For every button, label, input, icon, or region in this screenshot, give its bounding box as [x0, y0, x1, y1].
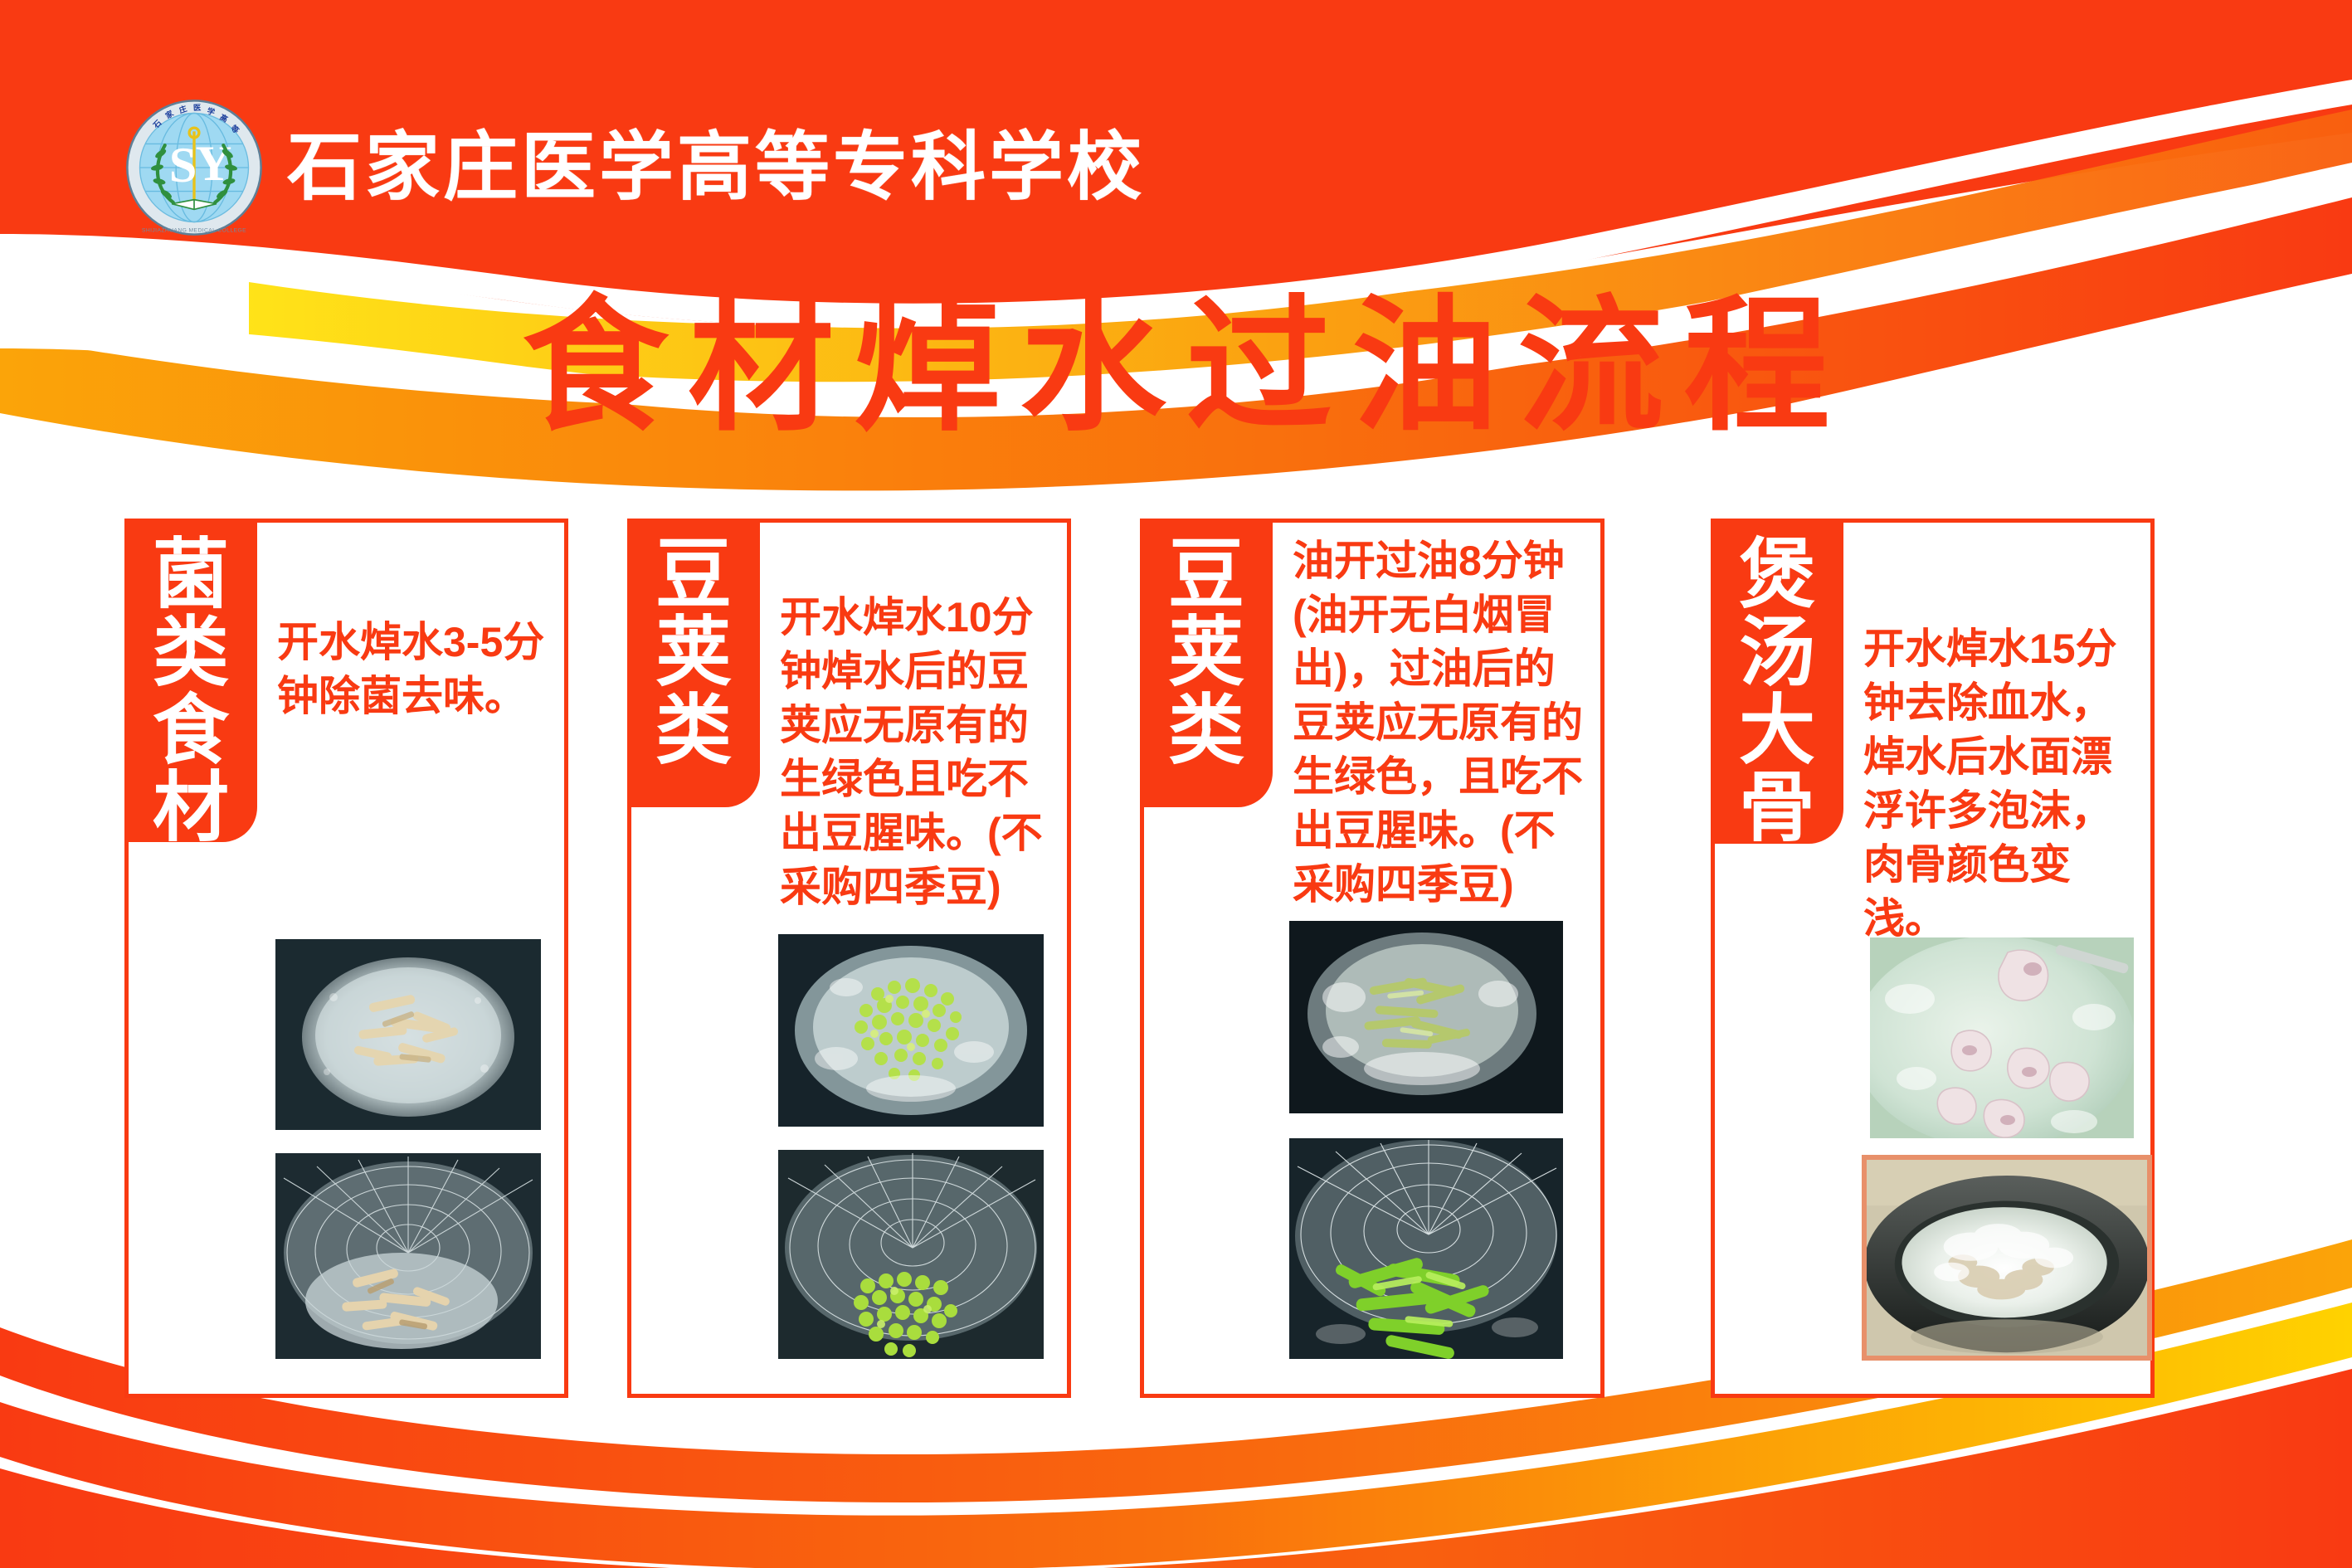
panel-mushrooms-tab: 菌 类 食 材 [124, 519, 257, 842]
panel-soup-bones-tab: 煲 汤 大 骨 [1711, 519, 1843, 844]
bones-foaming-in-pot-photo [1862, 1155, 2152, 1361]
diced-beans-in-boiling-water-photo [778, 934, 1044, 1127]
school-emblem-icon: S Y [124, 98, 264, 237]
poster-canvas: S Y [0, 0, 2352, 1568]
page-title: 食材焯水过油流程 [0, 290, 2352, 444]
tab-char: 大 [1739, 693, 1815, 771]
mushrooms-in-boiling-water-photo [275, 939, 541, 1130]
tab-char: 煲 [1739, 537, 1815, 615]
panel-grid: 菌 类 食 材 开水焯水3-5分钟除菌去味。 [0, 519, 2352, 1398]
tab-char: 荚 [1168, 615, 1244, 693]
bean-segments-in-hot-oil-photo [1289, 921, 1563, 1113]
panel-bean-pods-blanch: 豆 荚 类 开水焯水10分钟焯水后的豆荚应无原有的生绿色且吃不出豆腥味。(不采购… [627, 519, 1071, 1398]
tab-char: 菌 [153, 537, 229, 615]
bottom-wave-3 [0, 1369, 2352, 1568]
mushrooms-in-strainer-photo [275, 1153, 541, 1359]
diced-beans-in-strainer-photo [778, 1150, 1044, 1359]
panel-soup-bones-text: 开水焯水15分钟去除血水，焯水后水面漂浮许多泡沫，肉骨颜色变浅。 [1863, 622, 2142, 946]
tab-char: 类 [153, 615, 229, 693]
panel-bean-pods-oil-body: 油开过油8分钟(油开无白烟冒出)，过油后的豆荚应无原有的生绿色，且吃不出豆腥味。… [1281, 523, 1600, 1394]
panel-bean-pods-oil: 豆 荚 类 油开过油8分钟(油开无白烟冒出)，过油后的豆荚应无原有的生绿色，且吃… [1140, 519, 1605, 1398]
tab-char: 食 [153, 693, 229, 771]
panel-bean-pods-blanch-text: 开水焯水10分钟焯水后的豆荚应无原有的生绿色且吃不出豆腥味。(不采购四季豆) [780, 591, 1059, 914]
svg-text:SHIJIAZHUANG MEDICAL COLLEGE: SHIJIAZHUANG MEDICAL COLLEGE [142, 227, 246, 233]
panel-soup-bones-body: 开水焯水15分钟去除血水，焯水后水面漂浮许多泡沫，肉骨颜色变浅。 [1852, 523, 2150, 1394]
panel-mushrooms-body: 开水焯水3-5分钟除菌去味。 [265, 523, 564, 1394]
tab-char: 类 [1168, 693, 1244, 771]
panel-soup-bones: 煲 汤 大 骨 开水焯水15分钟去除血水，焯水后水面漂浮许多泡沫，肉骨颜色变浅。 [1711, 519, 2155, 1398]
tab-char: 汤 [1739, 615, 1815, 693]
tab-char: 荚 [655, 615, 732, 693]
tab-char: 豆 [655, 537, 732, 615]
panel-bean-pods-oil-text: 油开过油8分钟(油开无白烟冒出)，过油后的豆荚应无原有的生绿色，且吃不出豆腥味。… [1293, 534, 1592, 912]
bones-entering-boiling-water-photo [1870, 937, 2134, 1138]
panel-bean-pods-oil-tab: 豆 荚 类 [1140, 519, 1273, 807]
tab-char: 材 [153, 770, 229, 848]
school-name-text: 石家庄医学高等专科学校 [287, 130, 1145, 205]
tab-char: 类 [655, 693, 732, 771]
school-header: S Y [124, 98, 1145, 237]
panel-bean-pods-blanch-body: 开水焯水10分钟焯水后的豆荚应无原有的生绿色且吃不出豆腥味。(不采购四季豆) [768, 523, 1067, 1394]
svg-text:S: S [169, 138, 197, 193]
tab-char: 骨 [1739, 770, 1815, 848]
tab-char: 豆 [1168, 537, 1244, 615]
panel-bean-pods-blanch-tab: 豆 荚 类 [627, 519, 760, 807]
panel-mushrooms: 菌 类 食 材 开水焯水3-5分钟除菌去味。 [124, 519, 568, 1398]
bean-segments-in-strainer-photo [1289, 1138, 1563, 1359]
panel-mushrooms-text: 开水焯水3-5分钟除菌去味。 [277, 616, 556, 723]
svg-text:医: 医 [193, 104, 202, 112]
